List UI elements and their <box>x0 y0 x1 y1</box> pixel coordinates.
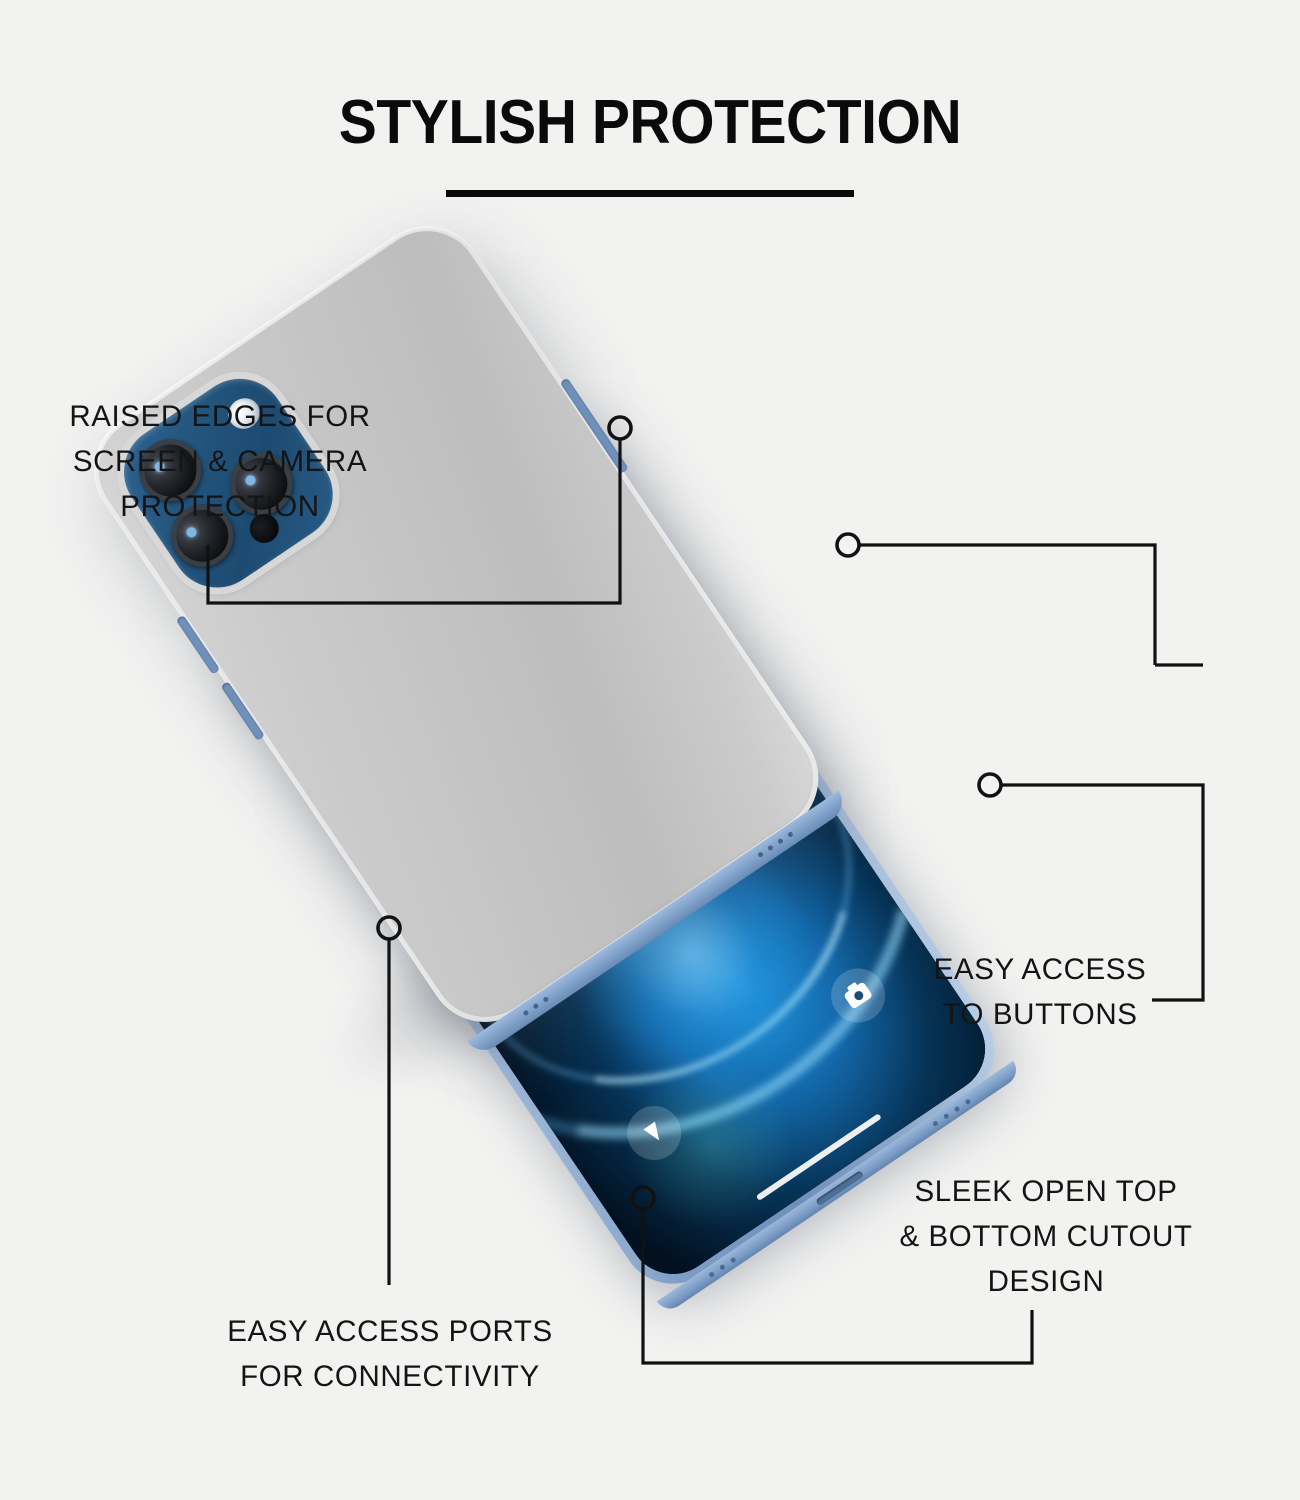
speaker-grille-left <box>708 1257 736 1278</box>
camera-icon <box>843 981 873 1009</box>
callout-label-sleek-cutout: SLEEK OPEN TOP & BOTTOM CUTOUT DESIGN <box>886 1170 1206 1304</box>
callout-label-easy-access-ports: EASY ACCESS PORTS FOR CONNECTIVITY <box>200 1310 580 1400</box>
case-cutout-volume-up <box>176 615 220 675</box>
callout-label-easy-access-buttons: EASY ACCESS TO BUTTONS <box>880 948 1200 1038</box>
case-cutout-power <box>560 378 629 474</box>
infographic-page: STYLISH PROTECTION <box>0 0 1300 1500</box>
case-cutout-volume-down <box>221 681 265 741</box>
callout-label-raised-edges: RAISED EDGES FOR SCREEN & CAMERA PROTECT… <box>30 395 410 529</box>
flashlight-icon <box>643 1122 665 1145</box>
